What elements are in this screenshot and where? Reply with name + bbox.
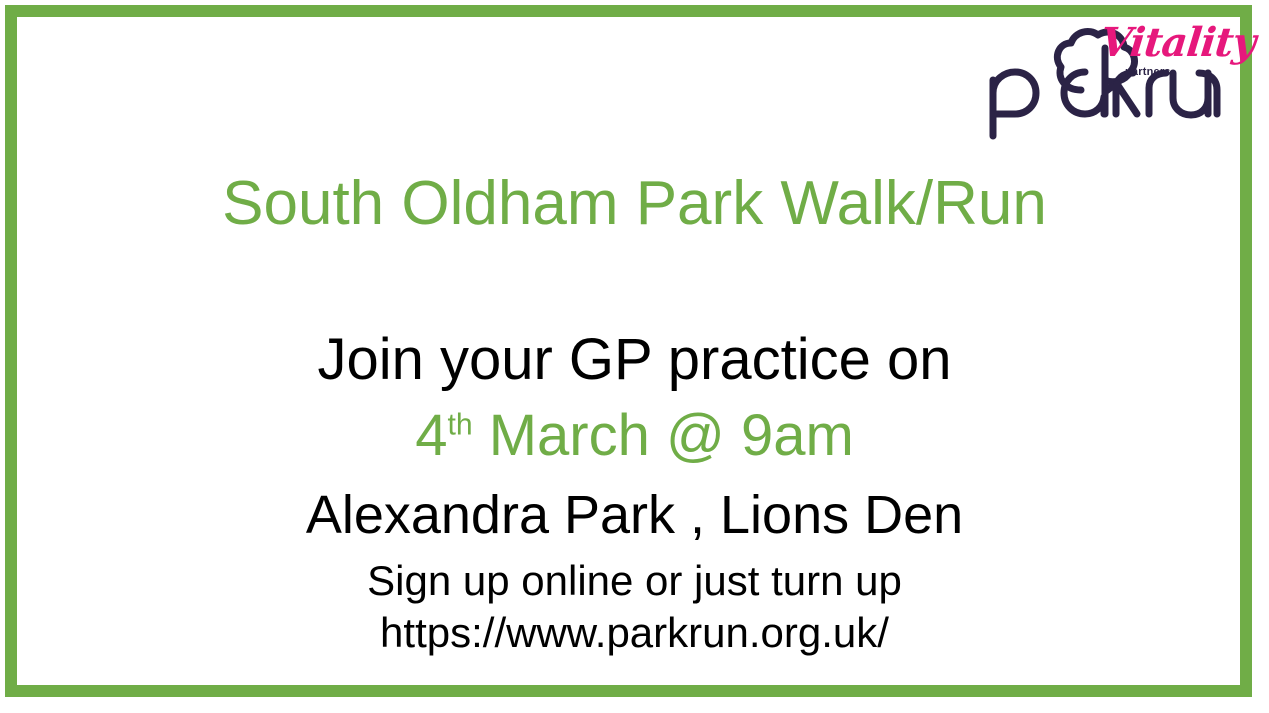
signup-instruction-line: Sign up online or just turn up <box>0 556 1269 606</box>
event-date-rest: March @ 9am <box>473 403 854 468</box>
invitation-line: Join your GP practice on <box>0 326 1269 394</box>
parkrun-url-link[interactable]: https://www.parkrun.org.uk/ <box>0 608 1269 658</box>
parkrun-vitality-logo: Vitality partners <box>977 18 1227 144</box>
event-date-ordinal: th <box>447 409 472 442</box>
event-venue-line: Alexandra Park , Lions Den <box>0 484 1269 546</box>
vitality-partners-lockup: Vitality partners <box>1103 22 1227 84</box>
event-date-line: 4th March @ 9am <box>0 402 1269 470</box>
partners-label: partners <box>1125 66 1227 78</box>
vitality-wordmark: Vitality <box>1099 22 1227 64</box>
event-date-day: 4 <box>415 403 447 468</box>
page-title: South Oldham Park Walk/Run <box>0 168 1269 240</box>
promo-slide: Vitality partners South Oldham Park Walk… <box>0 0 1269 713</box>
